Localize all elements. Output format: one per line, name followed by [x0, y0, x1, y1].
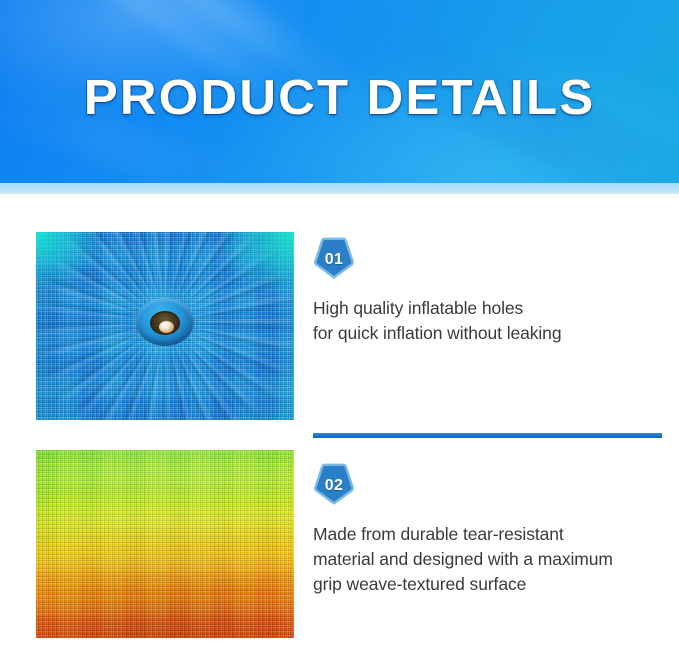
product-photo-inflation-valve — [36, 232, 294, 420]
feature-number-label: 02 — [313, 464, 355, 506]
photo-highlight-icon — [224, 232, 294, 292]
header-banner: PRODUCT DETAILS — [0, 0, 679, 183]
section-divider — [313, 433, 662, 438]
feature-row: 01 High quality inflatable holes for qui… — [0, 232, 679, 428]
page-title: PRODUCT DETAILS — [0, 72, 679, 124]
feature-number-badge: 01 — [313, 238, 355, 280]
product-details-infographic: PRODUCT DETAILS — [0, 0, 679, 653]
photo-base — [36, 450, 294, 638]
product-photo-weave-surface — [36, 450, 294, 638]
feature-body: 02 Made from durable tear-resistant mate… — [313, 464, 665, 597]
photo-highlight-icon — [36, 450, 294, 638]
feature-body: 01 High quality inflatable holes for qui… — [313, 238, 665, 346]
feature-description: Made from durable tear-resistant materia… — [313, 522, 665, 597]
feature-row: 02 Made from durable tear-resistant mate… — [0, 450, 679, 646]
photo-base — [36, 232, 294, 420]
header-accent-band — [0, 183, 679, 194]
feature-description: High quality inflatable holes for quick … — [313, 296, 665, 346]
content-area: 01 High quality inflatable holes for qui… — [0, 194, 679, 653]
feature-number-label: 01 — [313, 238, 355, 280]
feature-number-badge: 02 — [313, 464, 355, 506]
photo-highlight-icon — [36, 232, 100, 288]
